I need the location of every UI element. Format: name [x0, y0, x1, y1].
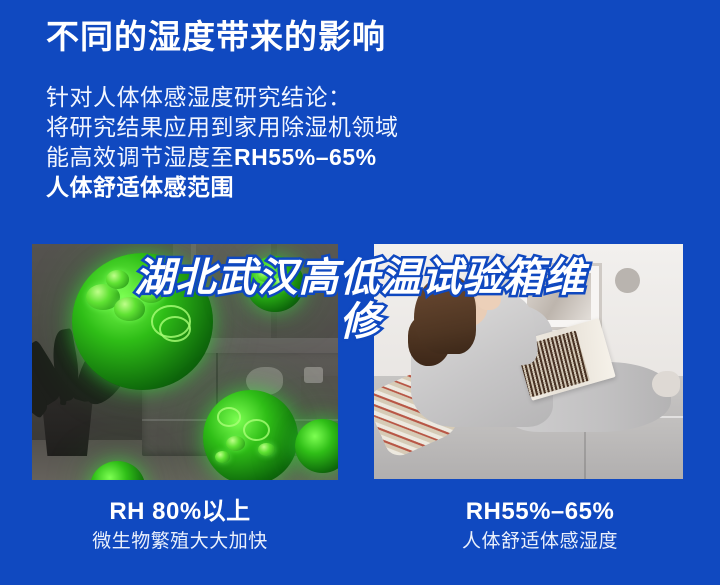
wall-speaker [615, 268, 640, 294]
body-line-3: 能高效调节湿度至RH55%–65% [46, 142, 566, 172]
caption-right-title: RH55%–65% [360, 496, 720, 528]
microbe-bud [114, 297, 145, 320]
body-line-3-highlight: RH55%–65% [234, 144, 377, 170]
caption-left-subtitle: 微生物繁殖大大加快 [0, 528, 360, 556]
poster-canvas: 不同的湿度带来的影响 针对人体体感湿度研究结论： 将研究结果应用到家用除湿机领域… [0, 0, 720, 585]
microbe-large [72, 253, 213, 390]
microbe-ring [243, 419, 270, 441]
caption-left: RH 80%以上 微生物繁殖大大加快 [0, 496, 360, 576]
microbe-ring [217, 407, 242, 427]
body-line-4: 人体舒适体感范围 [46, 172, 566, 202]
microbe-bud [257, 268, 274, 282]
body-line-1: 针对人体体感湿度研究结论： [46, 82, 566, 112]
page-title: 不同的湿度带来的影响 [46, 16, 386, 58]
photo-right-bright-room [374, 244, 683, 479]
caption-row: RH 80%以上 微生物繁殖大大加快 RH55%–65% 人体舒适体感湿度 [0, 496, 720, 576]
microbe-bud [215, 451, 230, 463]
person-foot [652, 371, 680, 397]
bright-room-scene [374, 244, 683, 479]
microbe-medium-bottom [203, 390, 298, 480]
person-hand [476, 286, 501, 310]
dark-room-scene [32, 244, 338, 480]
body-line-2: 将研究结果应用到家用除湿机领域 [46, 112, 566, 142]
microbe-bud [258, 443, 275, 456]
microbe-bud [137, 281, 165, 303]
cup [304, 367, 322, 384]
body-copy: 针对人体体感湿度研究结论： 将研究结果应用到家用除湿机领域 能高效调节湿度至RH… [46, 82, 566, 202]
microbe-ring [159, 316, 191, 342]
photo-left-dark-room [32, 244, 338, 480]
microbe-bud [226, 436, 245, 451]
caption-right: RH55%–65% 人体舒适体感湿度 [360, 496, 720, 576]
caption-left-title: RH 80%以上 [0, 496, 360, 528]
microbe-bud [274, 277, 289, 289]
person-hair [414, 275, 476, 355]
microbe-bud [106, 270, 130, 289]
caption-right-subtitle: 人体舒适体感湿度 [360, 528, 720, 556]
body-line-3-prefix: 能高效调节湿度至 [46, 144, 234, 170]
